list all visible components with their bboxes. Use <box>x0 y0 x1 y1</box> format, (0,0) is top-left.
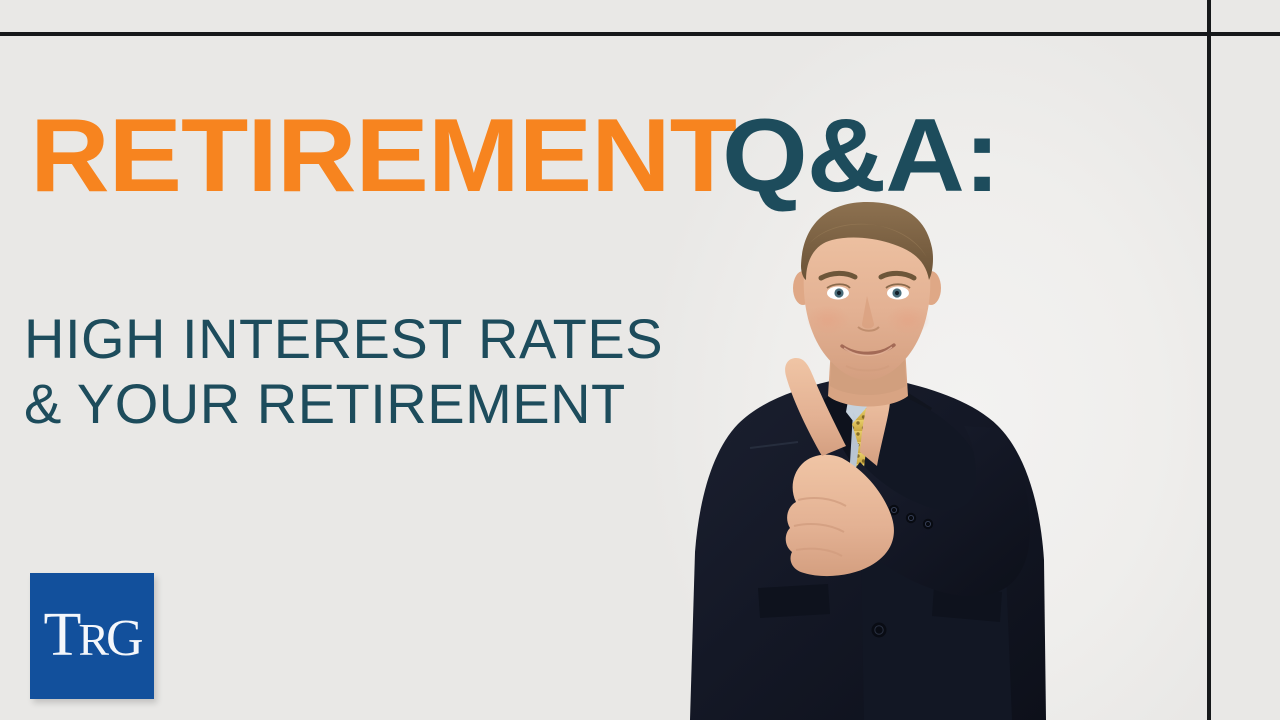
presenter-head <box>793 202 941 380</box>
logo-letter-t: T <box>43 601 78 669</box>
right-border-rule <box>1207 0 1211 720</box>
headline: RETIREMENTQ&A: <box>30 104 984 208</box>
trg-logo: TRG <box>30 573 154 699</box>
presenter-figure <box>646 200 1086 720</box>
subtitle-line-2: & YOUR RETIREMENT <box>24 371 663 436</box>
subtitle: HIGH INTEREST RATES & YOUR RETIREMENT <box>24 306 663 436</box>
jacket-button <box>872 623 887 638</box>
logo-wordmark: TRG <box>43 604 140 666</box>
headline-secondary-word: Q&A: <box>722 104 999 208</box>
logo-letter-r: R <box>78 614 106 665</box>
logo-letter-g: G <box>106 610 141 667</box>
subtitle-line-1: HIGH INTEREST RATES <box>24 306 663 371</box>
headline-primary-word: RETIREMENT <box>30 104 736 208</box>
